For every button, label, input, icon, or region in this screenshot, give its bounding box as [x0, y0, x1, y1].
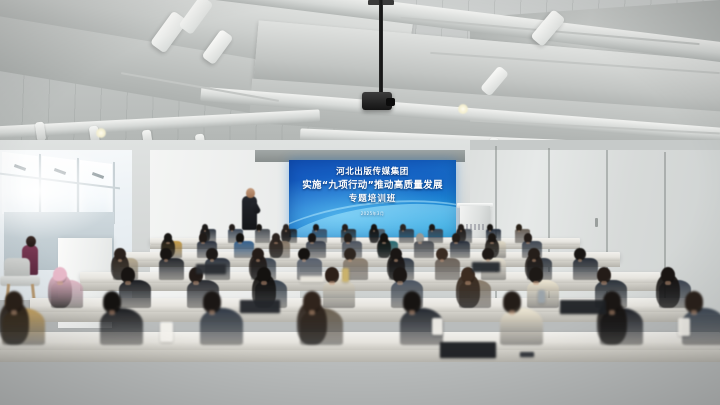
notebook [300, 276, 324, 282]
laptop [196, 264, 226, 274]
attendee-neck [209, 310, 216, 316]
attendee-neck [691, 310, 698, 316]
row-5-front [0, 0, 720, 405]
laptop [472, 262, 500, 272]
attendee-neck [309, 310, 316, 316]
phone [520, 352, 534, 357]
thermos [342, 268, 349, 282]
tiered-seating-area [0, 0, 720, 405]
thermos [538, 290, 545, 303]
paper-cup [678, 318, 690, 336]
attendee-neck [11, 310, 18, 316]
laptop [240, 300, 280, 313]
laptop [560, 300, 606, 314]
attendee-torso [100, 308, 143, 346]
laptop [440, 342, 496, 358]
attendee-torso [500, 308, 543, 346]
screenshot-root: 河北出版传媒集团 实施“九项行动”推动高质量发展 专题培训班 2025年3月 [0, 0, 720, 405]
attendee-neck [409, 310, 416, 316]
attendee-neck [509, 310, 516, 316]
attendee-neck [609, 310, 616, 316]
attendee-torso [200, 308, 243, 346]
attendee-neck [109, 310, 116, 316]
paper-cup [160, 322, 173, 342]
paper-cup [432, 318, 443, 335]
